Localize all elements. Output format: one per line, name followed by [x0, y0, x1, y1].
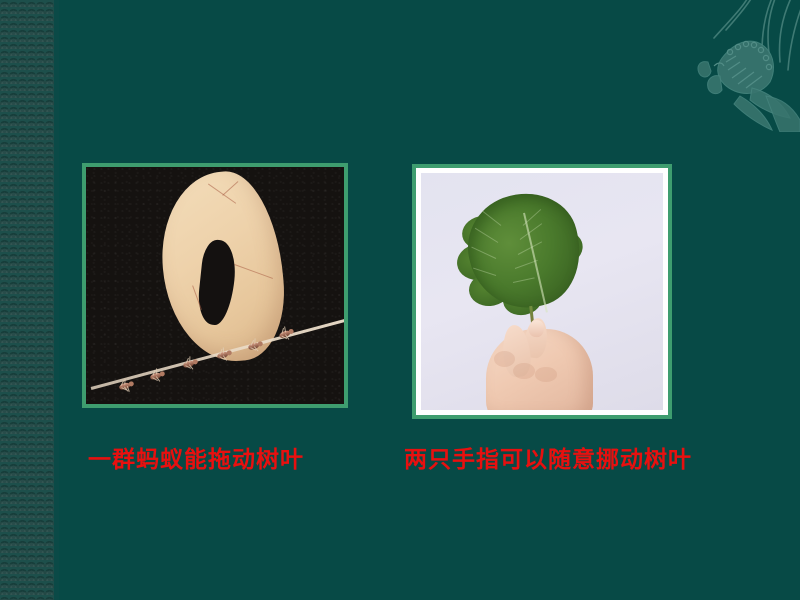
ant	[276, 326, 295, 340]
caption-leaf: 两只手指可以随意挪动树叶	[404, 440, 692, 474]
photo-hand-holding-leaf	[421, 173, 663, 410]
slide-canvas: 一群蚂蚁能拖动树叶	[0, 0, 800, 600]
caption-ants: 一群蚂蚁能拖动树叶	[88, 440, 304, 474]
photo-frame-leaf	[412, 164, 672, 419]
photo-frame-ants	[82, 163, 348, 408]
ant	[181, 357, 200, 370]
photo-ants-carrying-leaf	[86, 167, 344, 404]
strip-edge-divider	[54, 0, 59, 600]
phoenix-bird-ornament	[692, 0, 800, 132]
scalloped-pattern-strip	[0, 0, 54, 600]
thumbnail	[528, 319, 545, 337]
photo-mat	[416, 168, 668, 415]
